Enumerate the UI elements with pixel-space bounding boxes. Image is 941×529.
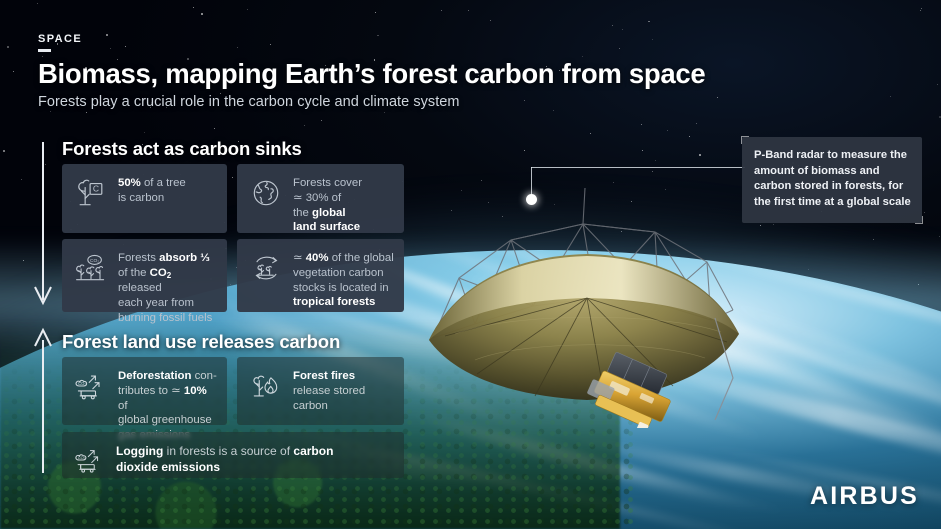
- callout-corner-bottom-right: [915, 216, 923, 224]
- deforestation-truck-icon: CO₂: [73, 368, 109, 404]
- card-co2-absorption-text: Forests absorb ⅓of the CO2 releasedeach …: [118, 250, 217, 326]
- page-title: Biomass, mapping Earth’s forest carbon f…: [38, 58, 818, 90]
- infographic-root: P-Band radar to measure the amount of bi…: [0, 0, 941, 529]
- forest-co2-absorb-icon: CO₂: [73, 250, 109, 286]
- card-forest-cover-text: Forests cover≃ 30% ofthe globalland surf…: [293, 175, 362, 235]
- svg-text:C: C: [93, 184, 99, 194]
- callout-box: P-Band radar to measure the amount of bi…: [742, 137, 922, 223]
- mesh-reflector: [429, 254, 739, 400]
- card-co2-absorption: CO₂ Forests absorb ⅓of the CO2 releasede…: [62, 239, 227, 312]
- carbon-cycle-arrows-icon: [248, 250, 284, 286]
- tree-with-carbon-label-icon: C: [73, 175, 109, 211]
- section-heading-carbon-sinks: Forests act as carbon sinks: [62, 138, 302, 160]
- page-subtitle: Forests play a crucial role in the carbo…: [38, 94, 738, 110]
- section-1-arrow-shaft: [42, 142, 44, 300]
- card-logging: CO₂ Logging in forests is a source of ca…: [62, 432, 404, 478]
- callout-corner-top-left: [741, 136, 749, 144]
- svg-text:CO₂: CO₂: [78, 455, 86, 460]
- kicker-label: SPACE: [38, 33, 82, 45]
- satellite-illustration: [415, 128, 755, 428]
- card-deforestation: CO₂ Deforestation con-tributes to ≃ 10% …: [62, 357, 227, 425]
- kicker-underline: [38, 49, 51, 52]
- airbus-logo: AIRBUS: [810, 482, 919, 511]
- card-logging-text: Logging in forests is a source of carbon…: [116, 443, 333, 475]
- card-tree-carbon-text: 50% of a treeis carbon: [118, 175, 186, 206]
- callout-anchor-dot: [526, 194, 537, 205]
- logging-truck-icon: CO₂: [73, 443, 107, 477]
- card-forest-fires: Forest firesrelease storedcarbon: [237, 357, 404, 425]
- callout-text: P-Band radar to measure the amount of bi…: [754, 149, 911, 208]
- card-forest-fires-text: Forest firesrelease storedcarbon: [293, 368, 365, 413]
- down-arrow-icon: [33, 283, 53, 307]
- card-tropical-stocks-text: ≃ 40% of the globalvegetation carbonstoc…: [293, 250, 394, 310]
- card-tropical-stocks: ≃ 40% of the globalvegetation carbonstoc…: [237, 239, 404, 312]
- callout-leader-horizontal: [531, 167, 745, 168]
- section-heading-land-use: Forest land use releases carbon: [62, 331, 340, 353]
- forest-fire-icon: [248, 368, 284, 404]
- biomass-satellite: [415, 128, 755, 428]
- svg-text:CO₂: CO₂: [90, 258, 99, 264]
- globe-icon: [248, 175, 284, 211]
- card-forest-cover: Forests cover≃ 30% ofthe globalland surf…: [237, 164, 404, 233]
- svg-text:CO₂: CO₂: [78, 381, 86, 386]
- section-2-arrow-shaft: [42, 340, 44, 473]
- card-tree-carbon: C 50% of a treeis carbon: [62, 164, 227, 233]
